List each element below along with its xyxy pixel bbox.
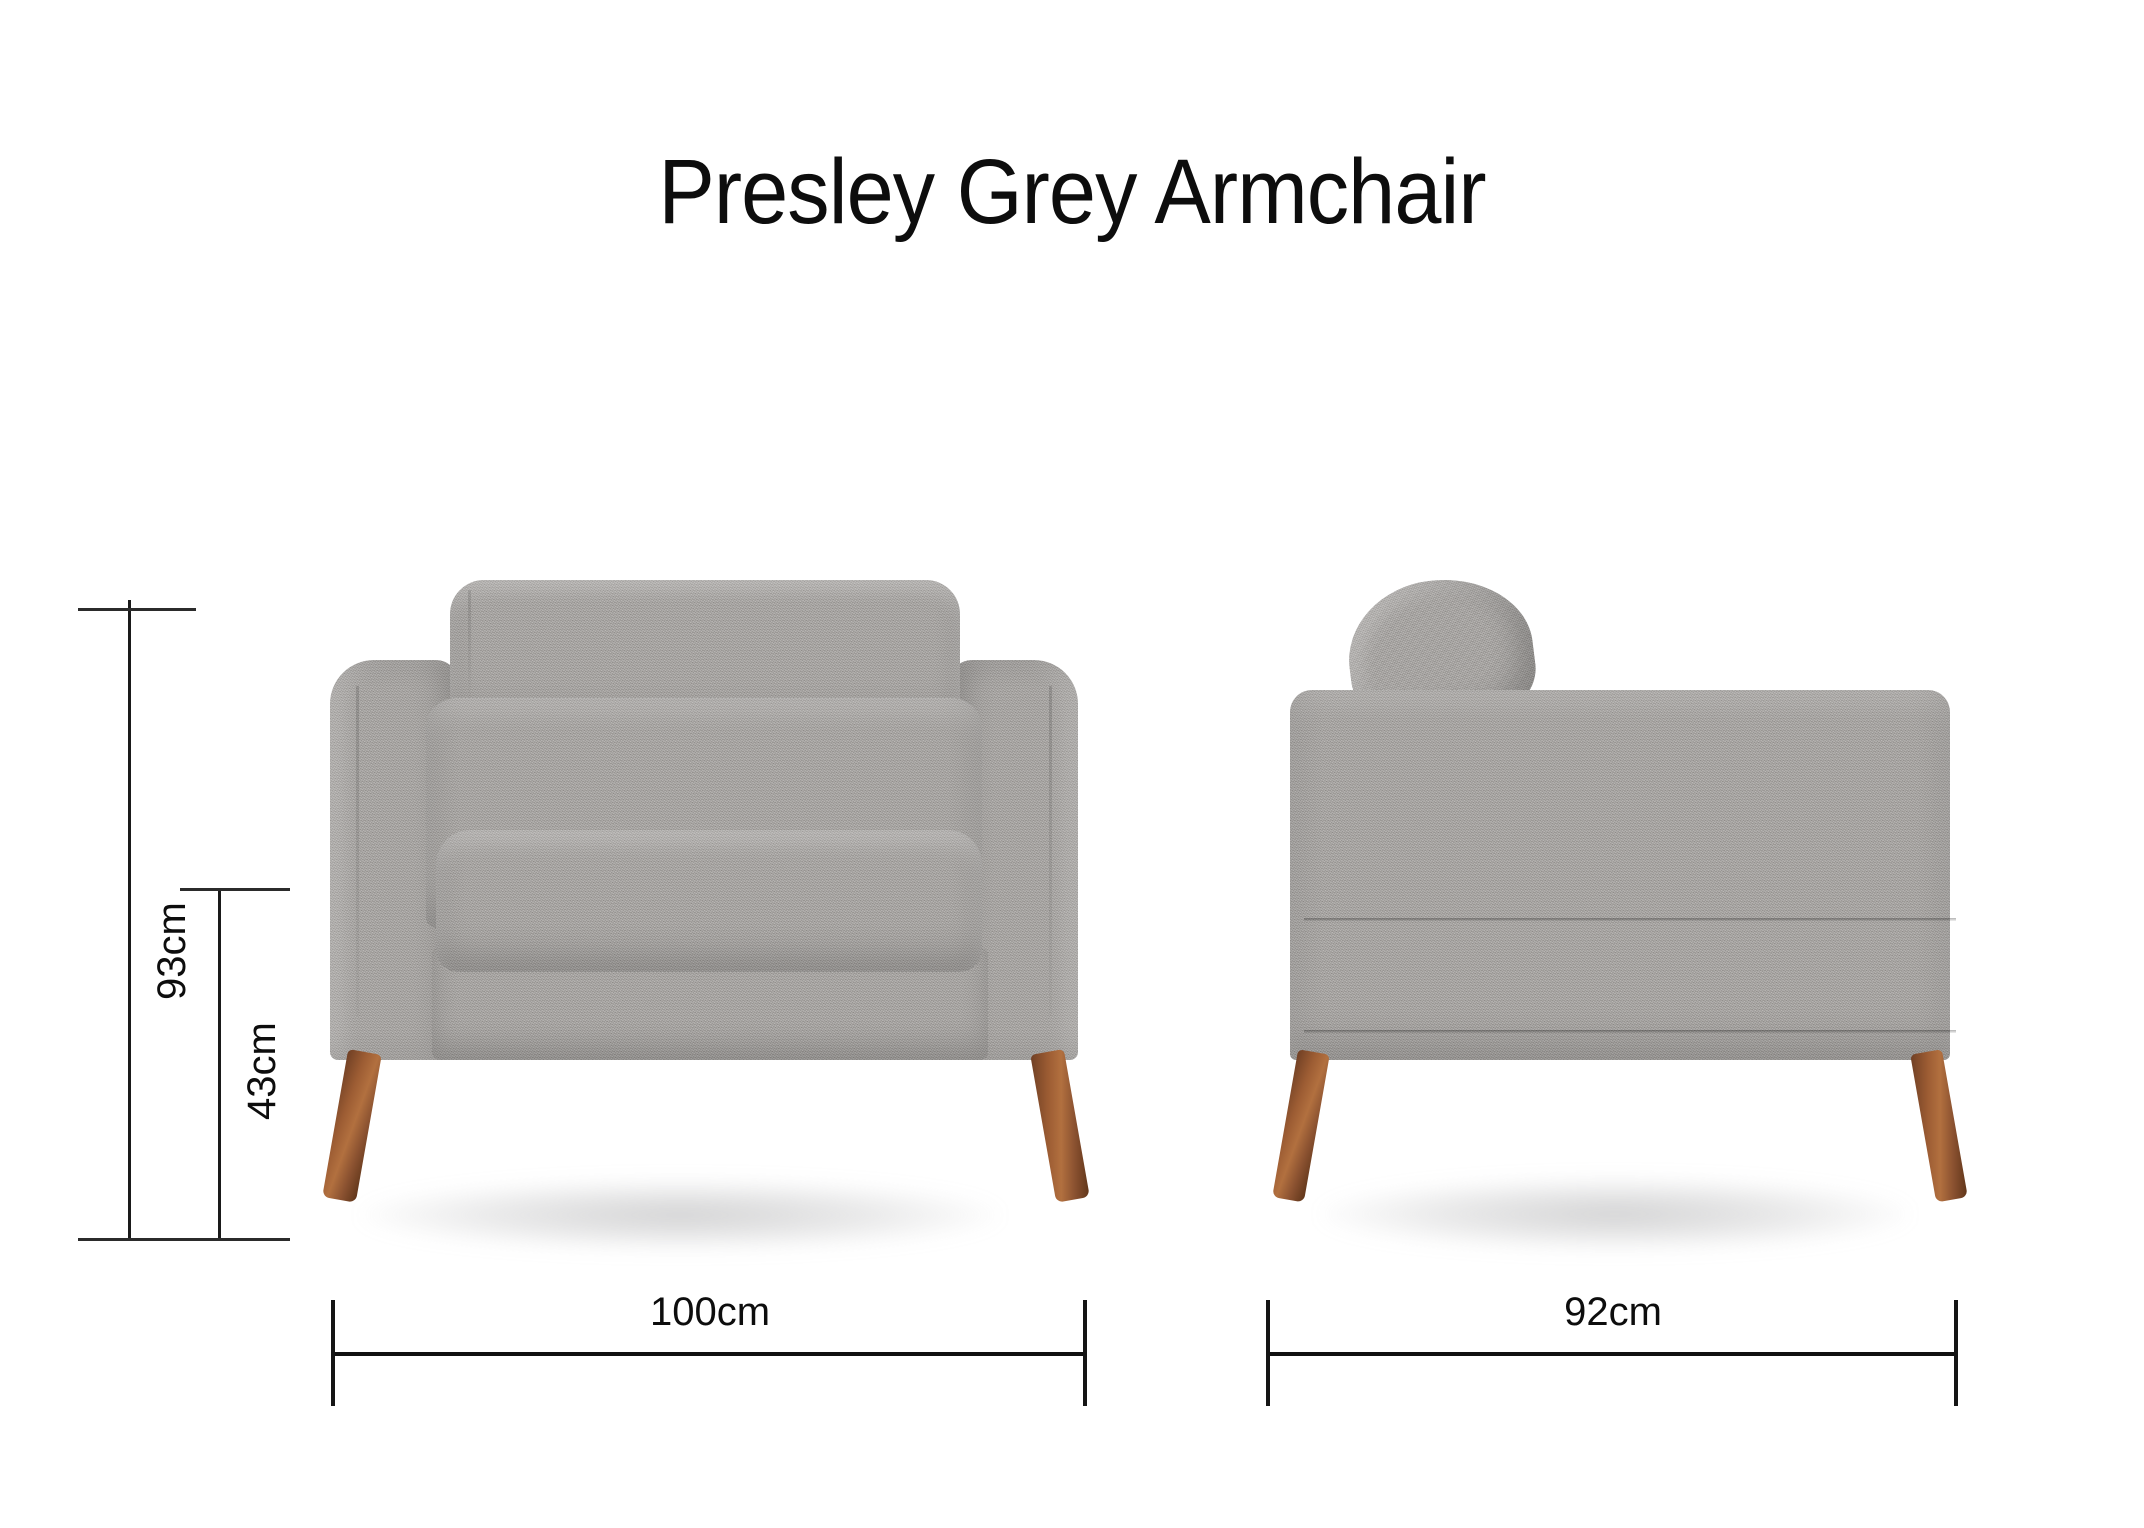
dimension-label-height-seat: 43cm [240,1022,285,1120]
seat-cushion [436,830,982,972]
diagram-canvas: Presley Grey Armchair 93cm 43cm 100cm [0,0,2144,1528]
side-seam-upper [1304,918,1956,921]
wooden-leg-icon-side-right [1910,1049,1968,1202]
dimension-tick-height-seat-bottom [180,1238,290,1241]
dimension-line-height-seat [218,888,221,1240]
dimension-tick-height-overall-top [78,608,196,611]
armchair-side-icon [1280,580,1970,1280]
dimension-line-height-overall [128,600,131,1240]
dimension-label-height-overall: 93cm [150,902,195,1000]
page-title: Presley Grey Armchair [86,140,2058,245]
side-panel [1290,690,1950,1060]
drop-shadow-icon [360,1180,1000,1250]
wooden-leg-icon-side-left [1272,1049,1330,1202]
dimension-tick-height-overall-bottom [78,1238,196,1241]
wooden-leg-icon-front-right [1030,1049,1090,1203]
wooden-leg-icon-front-left [322,1049,382,1203]
side-seam-lower [1304,1030,1956,1033]
dimension-label-width-front: 100cm [333,1290,1087,1335]
dimension-line-depth-side [1268,1352,1958,1356]
armchair-front-icon [330,580,1120,1280]
dimension-label-depth-side: 92cm [1268,1290,1958,1335]
dimension-line-width-front [333,1352,1087,1356]
drop-shadow-icon [1320,1178,1910,1250]
dimension-tick-height-seat-top [180,888,290,891]
